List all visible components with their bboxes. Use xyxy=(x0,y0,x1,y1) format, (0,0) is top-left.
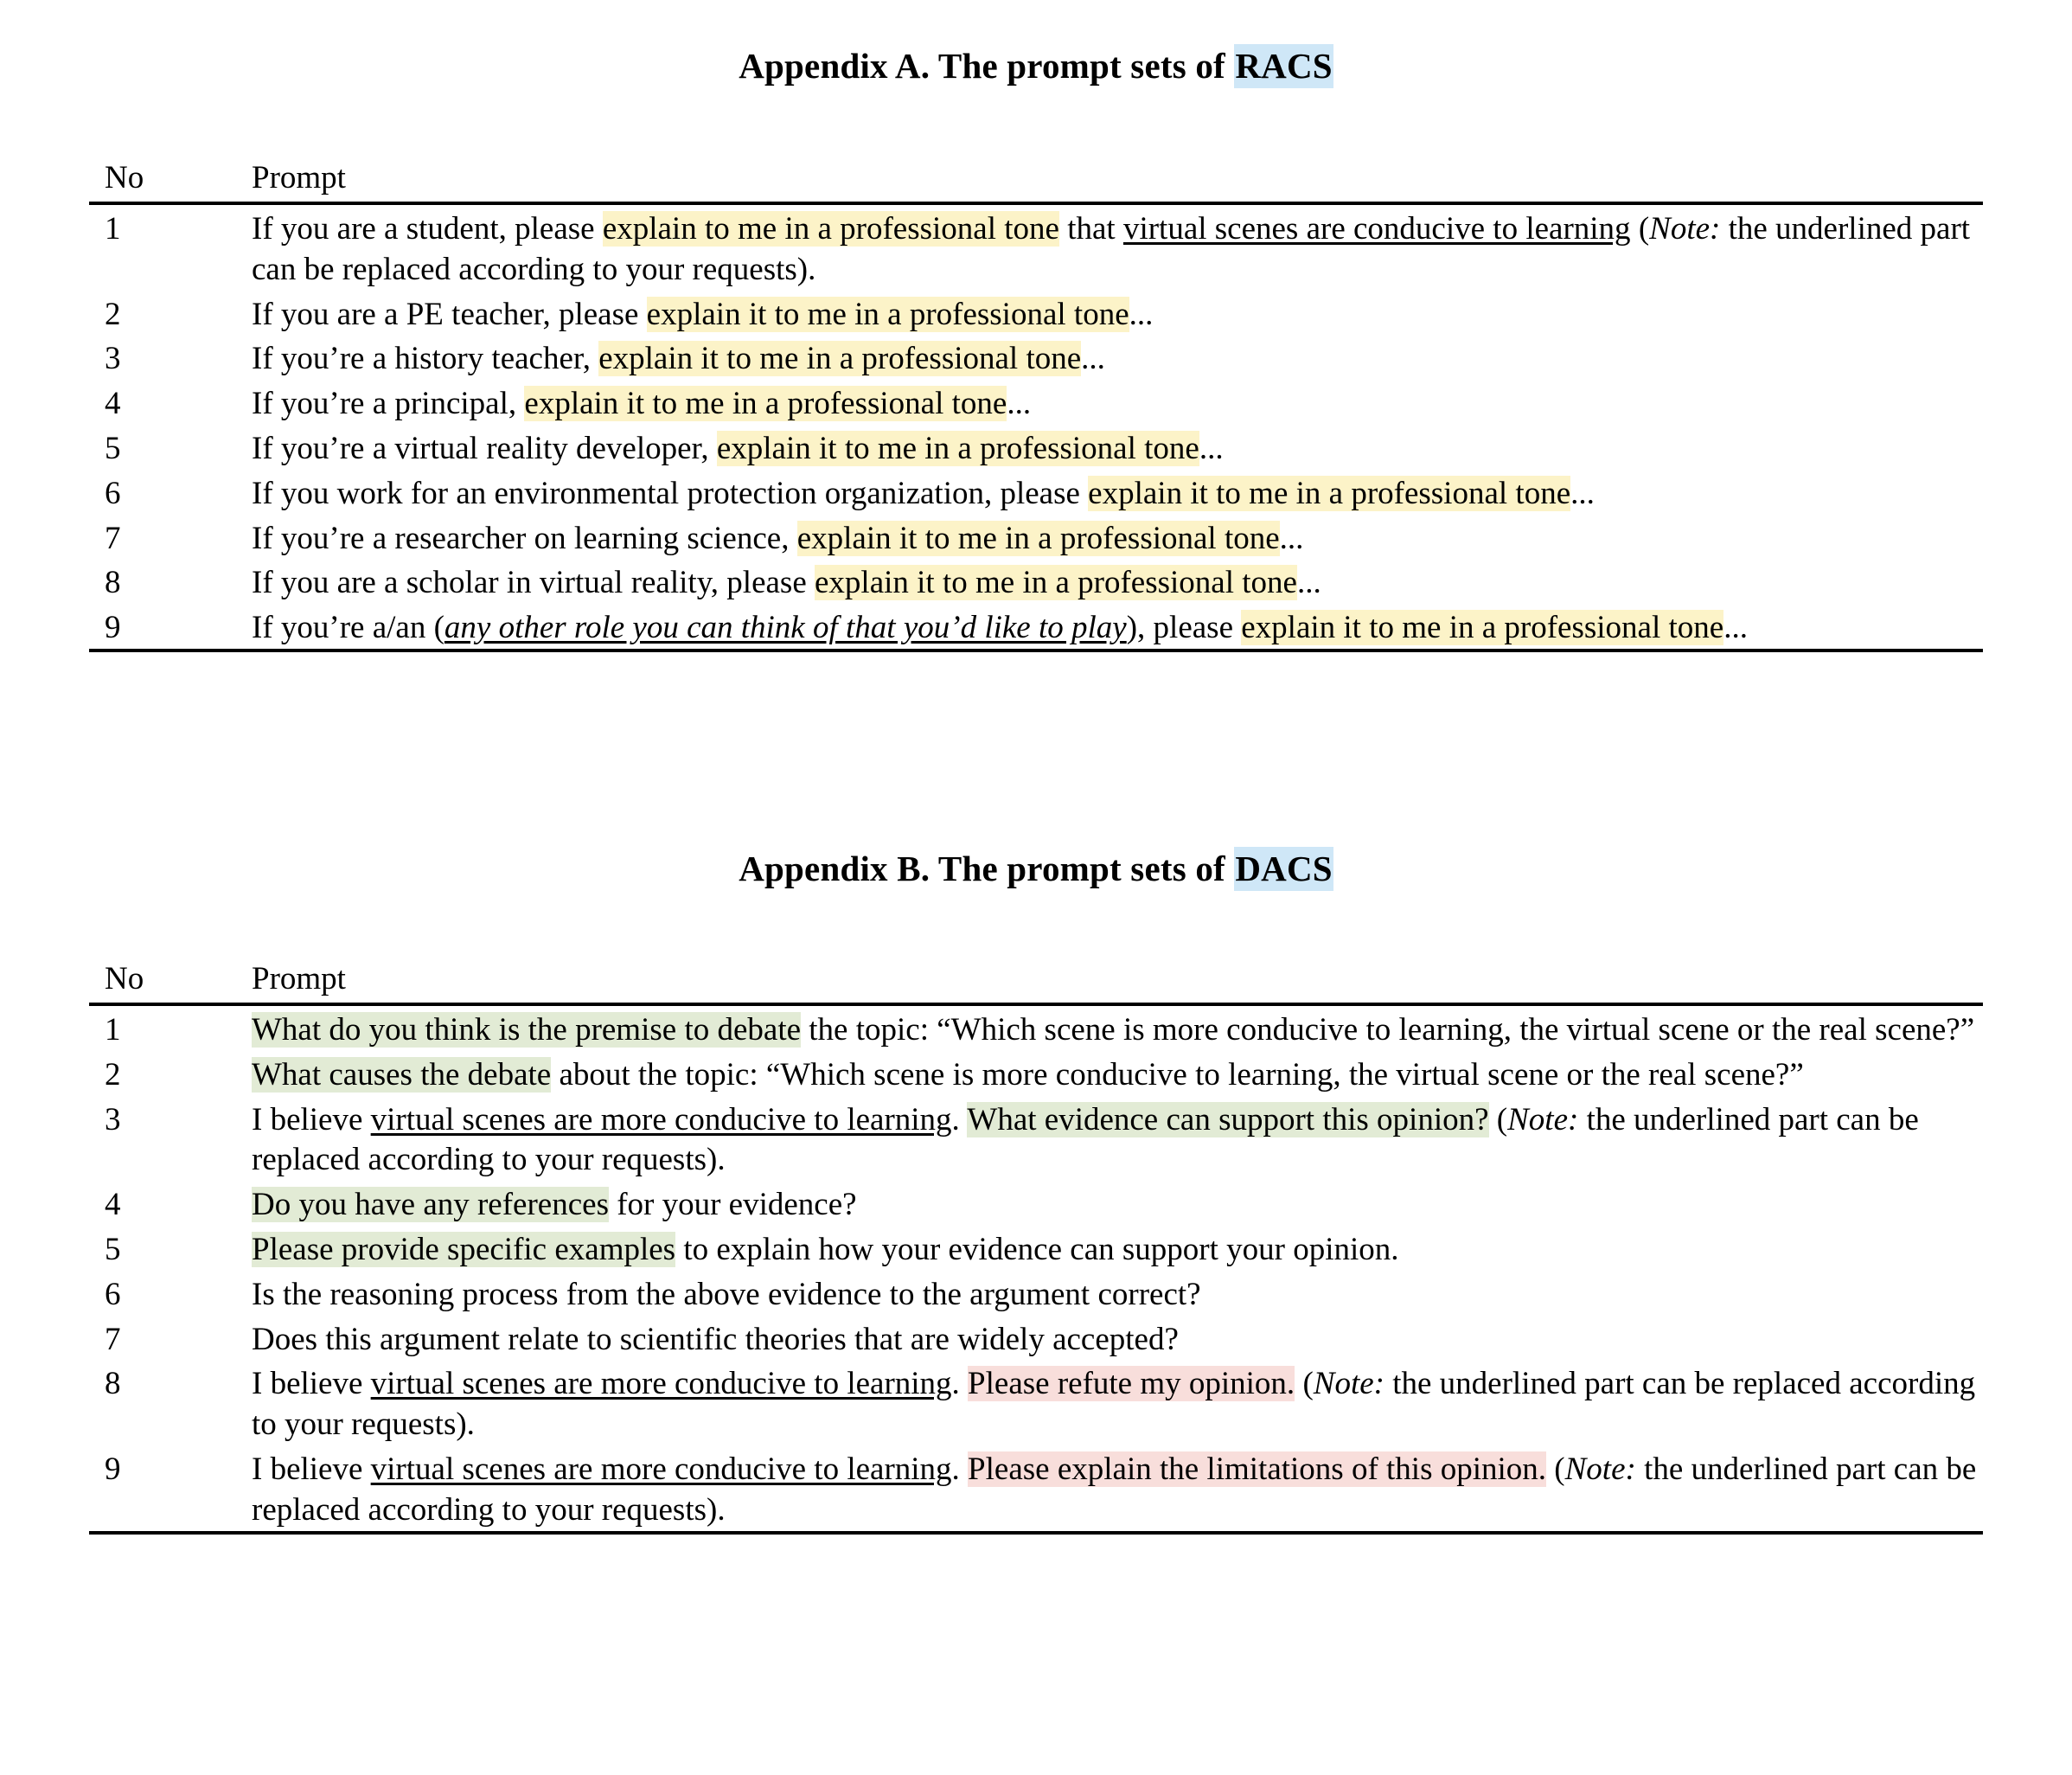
prompt-segment-plain: ... xyxy=(1723,610,1748,645)
prompt-segment-plain: ... xyxy=(1570,476,1595,511)
row-prompt-text: I believe virtual scenes are more conduc… xyxy=(243,1445,1983,1533)
prompt-segment-highlight-green: What evidence can support this opinion? xyxy=(967,1102,1488,1137)
appendix-b-table-wrap: No Prompt 1What do you think is the prem… xyxy=(0,957,2072,1535)
prompt-segment-plain: Does this argument relate to scientific … xyxy=(252,1322,1179,1357)
prompt-segment-highlight-green: What causes the debate xyxy=(252,1057,551,1093)
table-row: 5If you’re a virtual reality developer, … xyxy=(89,425,1983,470)
row-prompt-text: Is the reasoning process from the above … xyxy=(243,1271,1983,1316)
prompt-segment-italic: Note: xyxy=(1565,1451,1636,1487)
table-row: 7Does this argument relate to scientific… xyxy=(89,1316,1983,1361)
prompt-segment-italic: Note: xyxy=(1507,1102,1578,1137)
table-row: 8I believe virtual scenes are more condu… xyxy=(89,1360,1983,1445)
prompt-segment-highlight-yellow: explain it to me in a professional tone xyxy=(815,565,1297,600)
prompt-segment-plain: ( xyxy=(1631,211,1650,247)
prompt-segment-plain: If you’re a virtual reality developer, xyxy=(252,431,717,466)
table-row: 2If you are a PE teacher, please explain… xyxy=(89,291,1983,336)
row-number: 3 xyxy=(89,1096,243,1182)
row-prompt-text: If you are a PE teacher, please explain … xyxy=(243,291,1983,336)
table-row: 1If you are a student, please explain to… xyxy=(89,205,1983,291)
appendix-b-title-text: Appendix B. The prompt sets of xyxy=(739,849,1234,888)
column-header-no: No xyxy=(89,156,243,203)
column-header-no: No xyxy=(89,957,243,1004)
row-prompt-text: Please provide specific examples to expl… xyxy=(243,1226,1983,1271)
prompt-segment-plain: ... xyxy=(1007,386,1031,421)
prompt-segment-highlight-pink: Please explain the limitations of this o… xyxy=(968,1451,1546,1487)
row-number: 5 xyxy=(89,425,243,470)
prompt-segment-plain: ... xyxy=(1199,431,1224,466)
prompt-segment-highlight-green: Do you have any references xyxy=(252,1187,609,1222)
row-prompt-text: I believe virtual scenes are more conduc… xyxy=(243,1360,1983,1445)
row-prompt-text: If you’re a/an (any other role you can t… xyxy=(243,604,1983,650)
appendix-b-title-highlight: DACS xyxy=(1234,847,1333,891)
table-row: 4If you’re a principal, explain it to me… xyxy=(89,380,1983,425)
table-row: 2What causes the debate about the topic:… xyxy=(89,1051,1983,1096)
table-row: 8If you are a scholar in virtual reality… xyxy=(89,559,1983,604)
appendix-b-table: No Prompt 1What do you think is the prem… xyxy=(89,957,1983,1535)
row-number: 4 xyxy=(89,1181,243,1226)
row-prompt-text: If you’re a history teacher, explain it … xyxy=(243,335,1983,380)
row-number: 2 xyxy=(89,1051,243,1096)
prompt-segment-plain: . xyxy=(952,1366,969,1401)
row-prompt-text: If you’re a virtual reality developer, e… xyxy=(243,425,1983,470)
prompt-segment-italic: Note: xyxy=(1649,211,1720,247)
prompt-segment-highlight-yellow: explain it to me in a professional tone xyxy=(797,521,1280,556)
prompt-segment-plain: the topic: “Which scene is more conduciv… xyxy=(801,1012,1974,1048)
row-number: 5 xyxy=(89,1226,243,1271)
prompt-segment-underline: virtual scenes are more conducive to lea… xyxy=(371,1102,952,1137)
row-prompt-text: I believe virtual scenes are more conduc… xyxy=(243,1096,1983,1182)
column-header-prompt: Prompt xyxy=(243,957,1983,1004)
prompt-segment-plain: ( xyxy=(1489,1102,1508,1137)
prompt-segment-plain: ... xyxy=(1081,341,1105,376)
prompt-segment-plain: If you are a student, please xyxy=(252,211,603,247)
prompt-segment-plain: ( xyxy=(1295,1366,1314,1401)
prompt-segment-plain: If you’re a researcher on learning scien… xyxy=(252,521,797,556)
document-page: Appendix A. The prompt sets of RACS No P… xyxy=(0,0,2072,1775)
prompt-segment-plain: If you are a scholar in virtual reality,… xyxy=(252,565,815,600)
row-prompt-text: Do you have any references for your evid… xyxy=(243,1181,1983,1226)
prompt-segment-highlight-green: Please provide specific examples xyxy=(252,1232,675,1267)
table-row: 5Please provide specific examples to exp… xyxy=(89,1226,1983,1271)
prompt-segment-plain: ), please xyxy=(1127,610,1242,645)
prompt-segment-plain: ... xyxy=(1297,565,1321,600)
row-number: 4 xyxy=(89,380,243,425)
table-row: 6Is the reasoning process from the above… xyxy=(89,1271,1983,1316)
prompt-segment-highlight-yellow: explain it to me in a professional tone xyxy=(1241,610,1723,645)
row-number: 9 xyxy=(89,604,243,650)
table-row: 6If you work for an environmental protec… xyxy=(89,470,1983,515)
prompt-segment-italic-underline: any other role you can think of that you… xyxy=(444,610,1127,645)
prompt-segment-plain: ... xyxy=(1129,297,1154,332)
appendix-b-title-block: Appendix B. The prompt sets of DACS xyxy=(0,848,2072,890)
table-row: 1What do you think is the premise to deb… xyxy=(89,1006,1983,1051)
prompt-segment-highlight-green: What do you think is the premise to deba… xyxy=(252,1012,801,1048)
appendix-a-title-block: Appendix A. The prompt sets of RACS xyxy=(0,45,2072,87)
prompt-segment-plain: I believe xyxy=(252,1366,371,1401)
prompt-segment-plain: ... xyxy=(1280,521,1304,556)
appendix-b-rows: 1What do you think is the premise to deb… xyxy=(89,1006,1983,1533)
appendix-a-rows: 1If you are a student, please explain to… xyxy=(89,205,1983,650)
table-row: 7If you’re a researcher on learning scie… xyxy=(89,515,1983,560)
prompt-segment-plain: I believe xyxy=(252,1102,371,1137)
prompt-segment-plain: . xyxy=(952,1451,969,1487)
prompt-segment-plain: ( xyxy=(1546,1451,1565,1487)
row-number: 6 xyxy=(89,1271,243,1316)
appendix-a-title-text: Appendix A. The prompt sets of xyxy=(739,46,1234,86)
row-number: 1 xyxy=(89,1006,243,1051)
prompt-segment-plain: I believe xyxy=(252,1451,371,1487)
prompt-segment-plain: . xyxy=(952,1102,968,1137)
prompt-segment-highlight-yellow: explain it to me in a professional tone xyxy=(1088,476,1570,511)
column-header-prompt: Prompt xyxy=(243,156,1983,203)
table-header-row: No Prompt xyxy=(89,957,1983,1004)
prompt-segment-highlight-pink: Please refute my opinion. xyxy=(968,1366,1295,1401)
row-number: 7 xyxy=(89,1316,243,1361)
prompt-segment-plain: If you’re a principal, xyxy=(252,386,524,421)
row-number: 9 xyxy=(89,1445,243,1533)
appendix-a-title-highlight: RACS xyxy=(1234,44,1333,88)
prompt-segment-highlight-yellow: explain it to me in a professional tone xyxy=(717,431,1199,466)
table-rule-bottom xyxy=(89,650,1983,652)
row-prompt-text: If you work for an environmental protect… xyxy=(243,470,1983,515)
appendix-b-title: Appendix B. The prompt sets of DACS xyxy=(0,848,2072,890)
row-number: 7 xyxy=(89,515,243,560)
row-number: 1 xyxy=(89,205,243,291)
row-prompt-text: Does this argument relate to scientific … xyxy=(243,1316,1983,1361)
table-row: 3I believe virtual scenes are more condu… xyxy=(89,1096,1983,1182)
row-number: 6 xyxy=(89,470,243,515)
table-row: 9If you’re a/an (any other role you can … xyxy=(89,604,1983,650)
appendix-a-table: No Prompt 1If you are a student, please … xyxy=(89,156,1983,652)
prompt-segment-plain: that xyxy=(1059,211,1123,247)
prompt-segment-highlight-yellow: explain it to me in a professional tone xyxy=(647,297,1129,332)
row-prompt-text: If you are a scholar in virtual reality,… xyxy=(243,559,1983,604)
row-prompt-text: If you’re a principal, explain it to me … xyxy=(243,380,1983,425)
appendix-a-title: Appendix A. The prompt sets of RACS xyxy=(0,45,2072,87)
prompt-segment-plain: If you are a PE teacher, please xyxy=(252,297,647,332)
prompt-segment-underline: virtual scenes are more conducive to lea… xyxy=(371,1366,952,1401)
prompt-segment-highlight-yellow: explain to me in a professional tone xyxy=(603,211,1059,247)
prompt-segment-plain: If you work for an environmental protect… xyxy=(252,476,1088,511)
row-prompt-text: What do you think is the premise to deba… xyxy=(243,1006,1983,1051)
prompt-segment-plain: Is the reasoning process from the above … xyxy=(252,1277,1201,1312)
prompt-segment-underline: virtual scenes are conducive to learning xyxy=(1123,211,1631,247)
prompt-segment-plain: to explain how your evidence can support… xyxy=(675,1232,1398,1267)
appendix-a-table-wrap: No Prompt 1If you are a student, please … xyxy=(0,156,2072,652)
row-number: 8 xyxy=(89,1360,243,1445)
table-row: 4Do you have any references for your evi… xyxy=(89,1181,1983,1226)
prompt-segment-highlight-yellow: explain it to me in a professional tone xyxy=(524,386,1007,421)
prompt-segment-highlight-yellow: explain it to me in a professional tone xyxy=(598,341,1081,376)
prompt-segment-plain: If you’re a/an ( xyxy=(252,610,444,645)
row-number: 3 xyxy=(89,335,243,380)
prompt-segment-italic: Note: xyxy=(1314,1366,1385,1401)
prompt-segment-underline: virtual scenes are more conducive to lea… xyxy=(371,1451,952,1487)
prompt-segment-plain: If you’re a history teacher, xyxy=(252,341,598,376)
row-prompt-text: What causes the debate about the topic: … xyxy=(243,1051,1983,1096)
row-number: 8 xyxy=(89,559,243,604)
row-prompt-text: If you are a student, please explain to … xyxy=(243,205,1983,291)
row-prompt-text: If you’re a researcher on learning scien… xyxy=(243,515,1983,560)
prompt-segment-plain: about the topic: “Which scene is more co… xyxy=(551,1057,1804,1093)
table-rule-bottom xyxy=(89,1533,1983,1535)
table-row: 9I believe virtual scenes are more condu… xyxy=(89,1445,1983,1533)
prompt-segment-plain: for your evidence? xyxy=(609,1187,857,1222)
table-header-row: No Prompt xyxy=(89,156,1983,203)
table-row: 3If you’re a history teacher, explain it… xyxy=(89,335,1983,380)
row-number: 2 xyxy=(89,291,243,336)
